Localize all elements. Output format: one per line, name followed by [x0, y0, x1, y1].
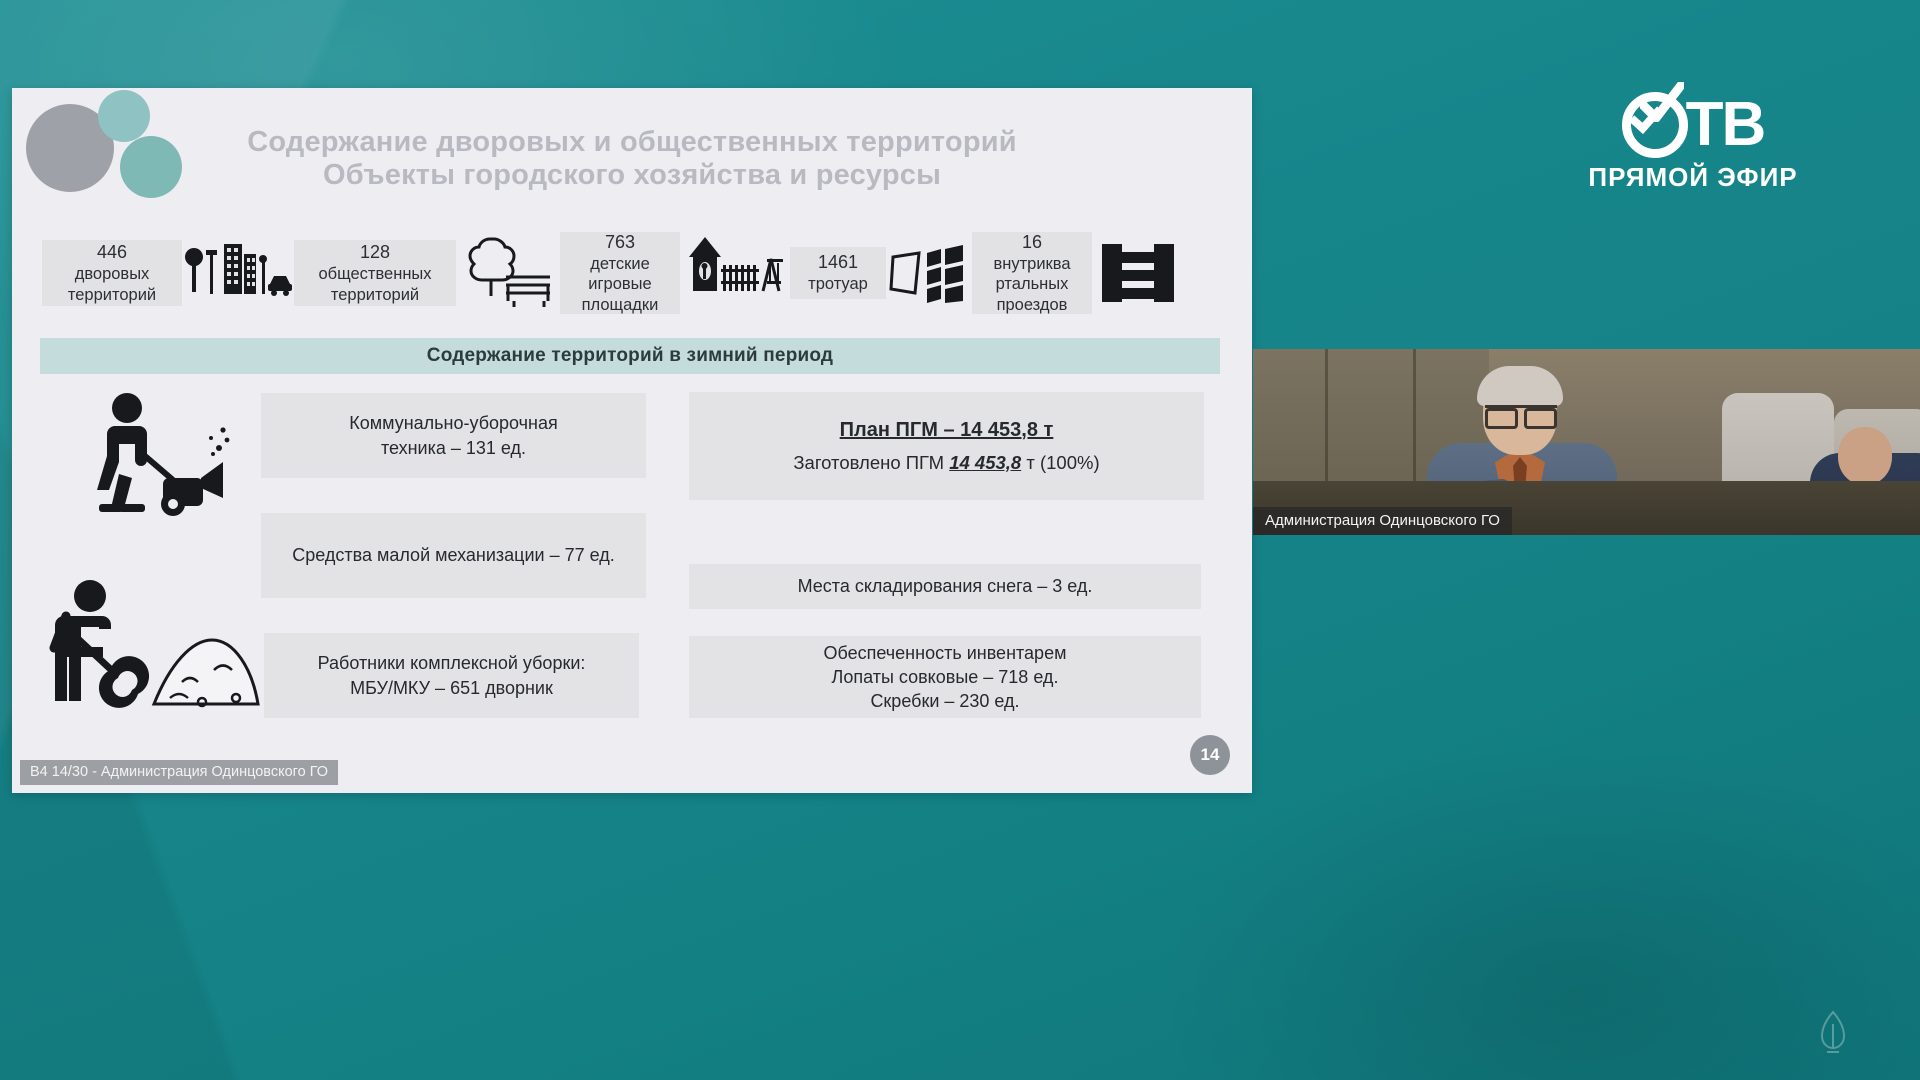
info-box-inventory: Обеспеченность инвентарем Лопаты совковы… [689, 636, 1201, 718]
stat-card-playgrounds: 763 детские игровые площадки [560, 232, 680, 314]
stat-number: 128 [304, 241, 446, 263]
yard-trees-car-icon [182, 240, 294, 306]
left-illustrations [36, 388, 251, 748]
stat-label: общественных территорий [304, 264, 446, 305]
live-badge: ПРЯМОЙ ЭФИР [1588, 162, 1798, 193]
pgm-stocked-prefix: Заготовлено ПГМ [793, 452, 944, 473]
pgm-stocked-value: 14 453,8 [949, 452, 1021, 473]
stat-label: дворовых территорий [52, 264, 172, 305]
logo-row: ТВ [1588, 92, 1798, 158]
screen: Содержание дворовых и общественных терри… [0, 0, 1920, 1080]
live-video-feed[interactable]: Администрация Одинцовского ГО [1253, 349, 1920, 535]
info-box-text: Работники комплексной уборки: МБУ/МКУ – … [318, 651, 586, 700]
pgm-stocked-suffix: т (100%) [1026, 452, 1099, 473]
winter-period-banner: Содержание территорий в зимний период [40, 338, 1220, 374]
speaker-glasses-icon [1485, 405, 1557, 420]
right-column: План ПГМ – 14 453,8 т Заготовлено ПГМ 14… [677, 388, 1202, 748]
road-crossing-icon [1092, 240, 1184, 306]
stat-number: 16 [982, 231, 1082, 253]
stat-number: 1461 [800, 251, 876, 273]
stats-row: 446 дворовых территорий [42, 223, 1222, 323]
info-box-text: Коммунально-уборочная техника – 131 ед. [349, 411, 557, 460]
info-box-pgm: План ПГМ – 14 453,8 т Заготовлено ПГМ 14… [689, 392, 1204, 500]
pavement-tiles-icon [886, 243, 972, 303]
video-caption-label: Администрация Одинцовского ГО [1265, 512, 1500, 529]
video-caption: Администрация Одинцовского ГО [1253, 507, 1512, 535]
pgm-stocked-line: Заготовлено ПГМ 14 453,8 т (100%) [793, 451, 1099, 476]
slide-source-watermark: В4 14/30 - Администрация Одинцовского ГО [20, 760, 338, 785]
video-wall-seam [1325, 349, 1328, 489]
stat-card-sidewalks: 1461 тротуар [790, 247, 886, 299]
winter-banner-label: Содержание территорий в зимний период [427, 345, 833, 367]
stat-label: детские игровые площадки [570, 254, 670, 315]
worker-shovel-snowpile-icon [46, 578, 261, 723]
info-box-small-mechanization: Средства малой механизации – 77 ед. [261, 513, 646, 598]
presentation-slide: Содержание дворовых и общественных терри… [12, 88, 1252, 793]
slide-title-line2: Объекты городского хозяйства и ресурсы [12, 159, 1252, 192]
info-box-cleaning-workers: Работники комплексной уборки: МБУ/МКУ – … [264, 633, 639, 718]
stat-number: 446 [52, 241, 172, 263]
info-box-text: Обеспеченность инвентарем Лопаты совковы… [824, 641, 1067, 714]
pgm-plan-label: План ПГМ – 14 453,8 т [840, 417, 1054, 444]
video-wall-seam [1413, 349, 1416, 489]
watermark-label: В4 14/30 - Администрация Одинцовского ГО [30, 764, 328, 780]
stat-card-public-territories: 128 общественных территорий [294, 240, 456, 306]
logo-letters: ТВ [1686, 94, 1765, 156]
playground-swing-icon [680, 233, 790, 313]
stat-label: тротуар [800, 274, 876, 294]
worker-snowblower-icon [91, 392, 231, 522]
left-column: Коммунально-уборочная техника – 131 ед. … [36, 388, 646, 748]
info-box-text: Средства малой механизации – 77 ед. [292, 543, 615, 567]
info-box-text: Места складирования снега – 3 ед. [798, 574, 1093, 598]
logo-checkmark-icon [1640, 82, 1684, 122]
info-box-cleaning-machinery: Коммунально-уборочная техника – 131 ед. [261, 393, 646, 478]
stat-card-yard-territories: 446 дворовых территорий [42, 240, 182, 306]
background-watermark-icon [1816, 1010, 1850, 1054]
slide-page-number: 14 [1190, 735, 1230, 775]
tree-bench-icon [456, 233, 560, 313]
second-person-head [1838, 427, 1892, 485]
stat-number: 763 [570, 231, 670, 253]
speaker-hair [1477, 366, 1563, 406]
stat-label: внутриква ртальных проездов [982, 254, 1082, 315]
info-box-snow-storage: Места складирования снега – 3 ед. [689, 564, 1201, 609]
slide-title-line1: Содержание дворовых и общественных терри… [247, 126, 1017, 158]
page-title: Содержание дворовых и общественных терри… [12, 126, 1252, 192]
channel-logo: ТВ ПРЯМОЙ ЭФИР [1588, 92, 1798, 193]
stat-card-intrablock-passages: 16 внутриква ртальных проездов [972, 232, 1092, 314]
page-number-label: 14 [1201, 745, 1220, 765]
